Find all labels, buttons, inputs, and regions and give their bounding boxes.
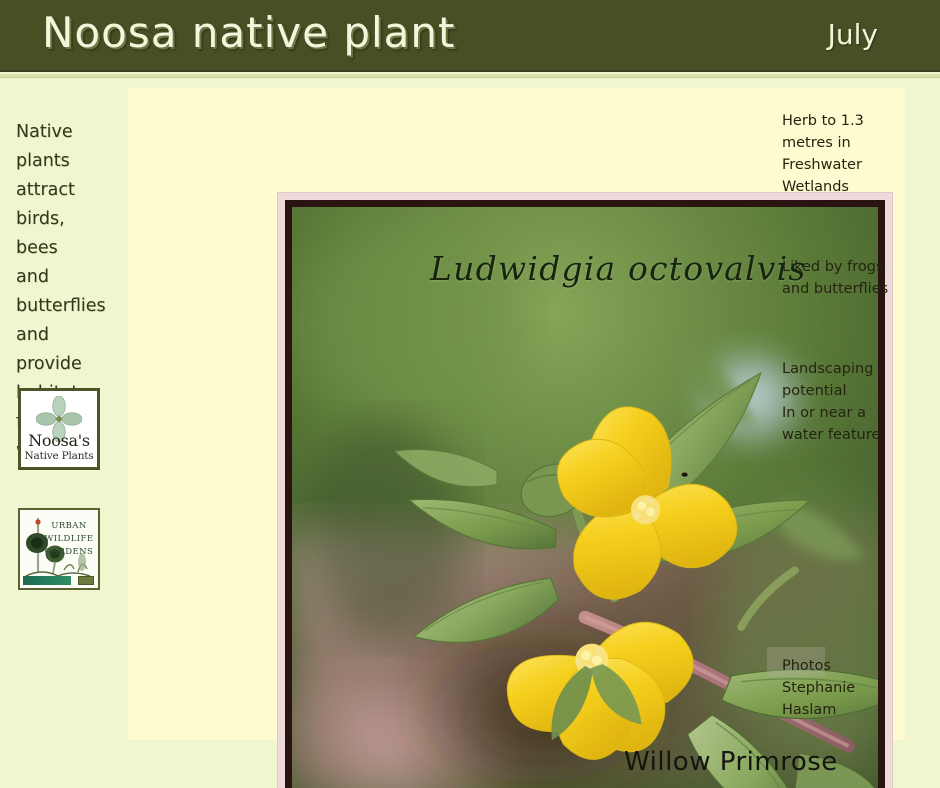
logo-line-1: URBAN [51, 521, 86, 531]
photo-credit-text: Photos Stephanie Haslam [782, 655, 932, 721]
header-underline-divider [0, 74, 940, 78]
logo-secondary-text: Native Plants [21, 450, 97, 462]
month-label: July [828, 18, 878, 51]
logo-wordmark: URBAN WILDLIFE GARDENS [44, 520, 94, 559]
common-name-caption: Willow Primrose [624, 747, 838, 777]
logo-line-3: GARDENS [45, 547, 93, 557]
photo-credit-block: Photos Stephanie Haslam [782, 655, 932, 721]
logo-footer-strip [23, 576, 71, 585]
logo-noosas-native-plants[interactable]: Noosa's Native Plants [18, 388, 100, 470]
logo-footer-chip [78, 576, 94, 585]
note-habitat: Herb to 1.3 metres in Freshwater Wetland… [782, 110, 932, 198]
logo-line-2: WILDLIFE [45, 534, 94, 544]
scientific-name-caption: Ludwidgia octovalvis [430, 249, 807, 288]
page-title: Noosa native plant [42, 8, 455, 57]
right-sidebar: Herb to 1.3 metres in Freshwater Wetland… [782, 110, 932, 504]
logo-urban-wildlife-gardens[interactable]: URBAN WILDLIFE GARDENS [18, 508, 100, 590]
note-landscaping: Landscaping potential In or near a water… [782, 358, 932, 446]
logo-primary-text: Noosa's [21, 431, 97, 450]
